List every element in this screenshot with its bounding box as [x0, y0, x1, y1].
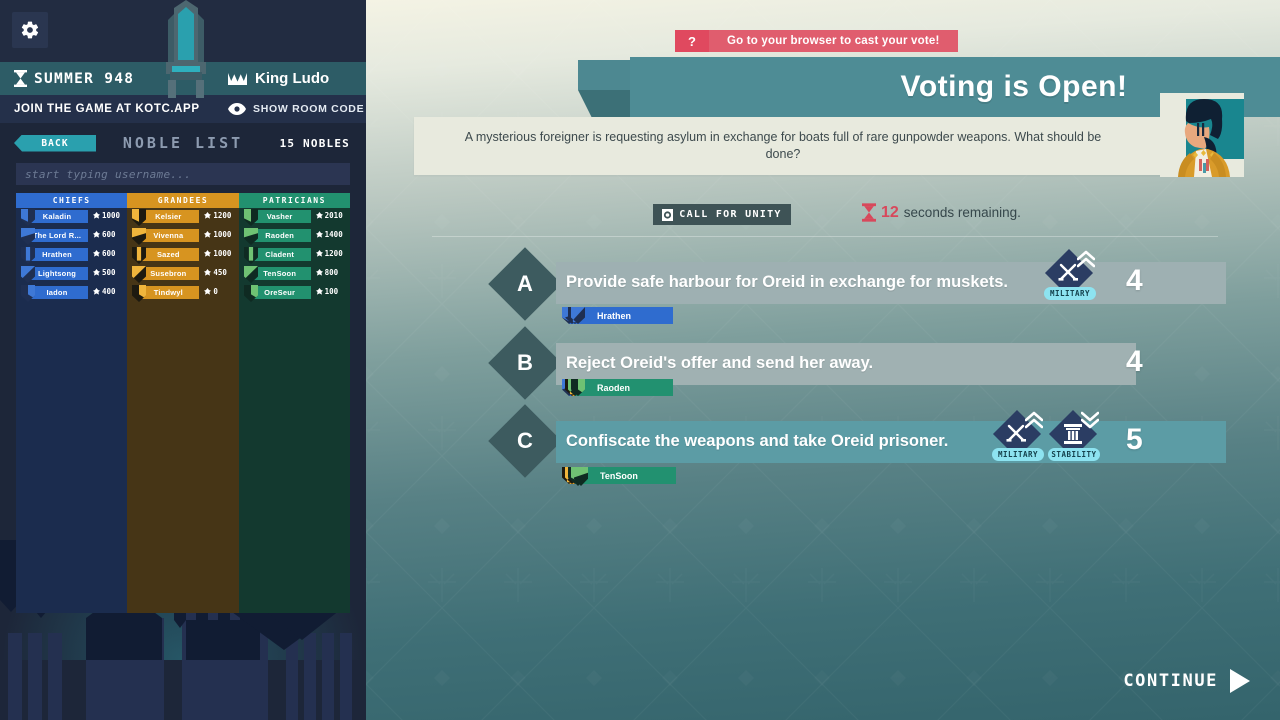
noble-shield	[21, 228, 35, 245]
noble-gold: 800	[316, 268, 339, 277]
noble-gold: 1000	[93, 211, 120, 220]
noble-gold: 1200	[316, 249, 343, 258]
noble-name: TenSoon	[249, 267, 311, 280]
season-label: SUMMER 948	[34, 71, 134, 87]
gold-icon	[204, 269, 211, 277]
noble-row[interactable]: The Lord R... 600	[16, 227, 127, 245]
noble-shield-icon	[21, 285, 35, 302]
noble-gold: 600	[93, 230, 116, 239]
gold-icon	[93, 288, 100, 296]
noble-shield	[244, 247, 258, 264]
noble-shield-icon	[244, 228, 258, 245]
noble-name: Susebron	[137, 267, 199, 280]
noble-gold-value: 1200	[325, 249, 343, 258]
effect-label: STABILITY	[1048, 448, 1100, 461]
noble-shield-icon	[132, 266, 146, 283]
noble-shield	[132, 285, 146, 302]
option-voters: The Lord Ruler Iadon Kaladin Hrathen	[562, 307, 571, 324]
voter-shield	[571, 379, 585, 398]
search-container	[0, 163, 366, 185]
call-for-unity-label: CALL FOR UNITY	[679, 209, 782, 220]
noble-row[interactable]: Vasher 2010	[239, 208, 350, 226]
noble-name: Hrathen	[26, 248, 88, 261]
noble-gold: 1000	[204, 230, 231, 239]
main-stage: ? Go to your browser to cast your vote! …	[366, 0, 1280, 720]
noble-shield-icon	[574, 467, 588, 486]
noble-shield-icon	[571, 307, 585, 326]
noble-gold: 600	[93, 249, 116, 258]
noble-gold: 0	[204, 287, 218, 296]
noble-shield	[21, 266, 35, 283]
voter-shield	[574, 467, 588, 486]
noble-shield	[21, 209, 35, 226]
noble-row[interactable]: Kelsier 1200	[127, 208, 238, 226]
noble-name: Tindwyl	[137, 286, 199, 299]
noble-shield-icon	[132, 285, 146, 302]
timer-seconds: 12	[881, 204, 899, 222]
voter-shield	[571, 307, 585, 326]
noble-gold-value: 600	[102, 230, 116, 239]
throne-icon	[160, 0, 212, 100]
noble-gold: 500	[93, 268, 116, 277]
event-description: A mysterious foreigner is requesting asy…	[414, 129, 1232, 164]
voter-name: Hrathen	[578, 307, 673, 324]
noble-gold-value: 1400	[325, 230, 343, 239]
noble-count: 15 NOBLES	[280, 137, 350, 150]
noble-name: Vivenna	[137, 229, 199, 242]
effect-label: MILITARY	[992, 448, 1044, 461]
column-header-patricians: PATRICIANS	[239, 193, 350, 208]
noble-shield-icon	[132, 209, 146, 226]
continue-label: CONTINUE	[1123, 671, 1218, 691]
column-body-grandees: Kelsier 1200 Vivenna 1000 Sazed 1000	[127, 208, 238, 613]
voter-name: TenSoon	[581, 467, 676, 484]
noble-gold-value: 1000	[213, 230, 231, 239]
gold-icon	[204, 231, 211, 239]
noble-gold: 1200	[204, 211, 231, 220]
noble-gold-value: 100	[325, 287, 339, 296]
option-text: Confiscate the weapons and take Oreid pr…	[556, 432, 948, 451]
hourglass-icon	[862, 203, 876, 222]
continue-button[interactable]: CONTINUE	[1123, 668, 1252, 694]
noble-row[interactable]: OreSeur 100	[239, 284, 350, 302]
gold-icon	[93, 250, 100, 258]
noble-row[interactable]: Kaladin 1000	[16, 208, 127, 226]
option-voters: Kelsier Tindwyl OreSeur Cladent TenSoon	[562, 467, 574, 484]
crown-icon	[228, 72, 247, 86]
noble-row[interactable]: Tindwyl 0	[127, 284, 238, 302]
noble-columns: CHIEFS Kaladin 1000 The Lord R... 600 Hr	[0, 193, 366, 613]
option-letter: B	[517, 350, 533, 376]
noble-shield-icon	[21, 209, 35, 226]
search-input[interactable]	[16, 163, 350, 185]
noble-gold-value: 1000	[213, 249, 231, 258]
gold-icon	[316, 250, 323, 258]
noble-shield-icon	[244, 266, 258, 283]
noble-shield	[244, 285, 258, 302]
eye-icon	[228, 103, 246, 115]
column-body-chiefs: Kaladin 1000 The Lord R... 600 Hrathen 6…	[16, 208, 127, 613]
game-screen: SUMMER 948 King Ludo JOIN THE GAME AT KO…	[0, 0, 1280, 720]
noble-shield	[132, 228, 146, 245]
noble-name: Iadon	[26, 286, 88, 299]
effect-label: MILITARY	[1044, 287, 1096, 300]
noble-row[interactable]: Vivenna 1000	[127, 227, 238, 245]
chevron-double-up-icon	[1077, 250, 1095, 268]
noble-gold: 400	[93, 287, 116, 296]
noble-shield	[132, 209, 146, 226]
noble-shield	[21, 247, 35, 264]
help-badge[interactable]: ?	[675, 30, 709, 52]
sidebar: SUMMER 948 King Ludo JOIN THE GAME AT KO…	[0, 0, 366, 720]
option-letter: C	[517, 428, 533, 454]
noble-shield	[132, 266, 146, 283]
section-divider	[432, 236, 1218, 237]
chevron-double-down-icon	[1081, 411, 1099, 429]
noble-shield-icon	[244, 285, 258, 302]
option-text: Reject Oreid's offer and send her away.	[556, 354, 873, 373]
noble-gold-value: 600	[102, 249, 116, 258]
noble-shield-icon	[244, 247, 258, 264]
column-header-chiefs: CHIEFS	[16, 193, 127, 208]
option-vote-count: 4	[1126, 264, 1143, 298]
noble-name: Kaladin	[26, 210, 88, 223]
gold-icon	[316, 212, 323, 220]
gold-icon	[93, 212, 100, 220]
voting-status-title: Voting is Open!	[901, 70, 1128, 104]
noble-gold: 1400	[316, 230, 343, 239]
option-vote-count: 5	[1126, 423, 1143, 457]
noble-shield	[244, 228, 258, 245]
noble-shield	[244, 266, 258, 283]
noble-row[interactable]: TenSoon 800	[239, 265, 350, 283]
noble-row[interactable]: Iadon 400	[16, 284, 127, 302]
vote-url-message: Go to your browser to cast your vote!	[709, 30, 958, 52]
show-room-code-button[interactable]: SHOW ROOM CODE	[228, 103, 364, 115]
sidebar-topbar	[0, 0, 366, 62]
noble-row[interactable]: Hrathen 600	[16, 246, 127, 264]
noble-name: Sazed	[137, 248, 199, 261]
gold-icon	[316, 288, 323, 296]
play-arrow-icon	[1228, 668, 1252, 694]
noble-shield	[132, 247, 146, 264]
noble-gold-value: 0	[213, 287, 218, 296]
gold-icon	[204, 250, 211, 258]
gold-icon	[93, 231, 100, 239]
hourglass-icon	[14, 70, 27, 87]
unity-icon	[662, 209, 673, 221]
gold-icon	[316, 231, 323, 239]
noble-gold: 2010	[316, 211, 343, 220]
noble-name: The Lord R...	[26, 229, 88, 242]
noble-gold-value: 1200	[213, 211, 231, 220]
noble-shield	[244, 209, 258, 226]
column-header-grandees: GRANDEES	[127, 193, 238, 208]
timer-suffix: seconds remaining.	[904, 205, 1021, 220]
vote-timer: 12 seconds remaining.	[862, 203, 1021, 222]
noble-column-chiefs: CHIEFS Kaladin 1000 The Lord R... 600 Hr	[16, 193, 127, 613]
noble-shield	[21, 285, 35, 302]
noble-shield-icon	[132, 247, 146, 264]
noble-column-patricians: PATRICIANS Vasher 2010 Raoden 1400 Clade	[239, 193, 350, 613]
effect-direction-icon	[1081, 411, 1099, 429]
noble-gold-value: 1000	[102, 211, 120, 220]
noble-gold: 1000	[204, 249, 231, 258]
noble-name: Kelsier	[137, 210, 199, 223]
noble-name: Cladent	[249, 248, 311, 261]
character-portrait	[1160, 93, 1244, 177]
noble-row[interactable]: Susebron 450	[127, 265, 238, 283]
gear-icon	[20, 20, 40, 40]
gold-icon	[204, 212, 211, 220]
noble-name: Lightsong	[26, 267, 88, 280]
gold-icon	[93, 269, 100, 277]
ribbon-tail-left	[578, 60, 638, 90]
noble-gold-value: 800	[325, 268, 339, 277]
noble-gold: 100	[316, 287, 339, 296]
noble-column-grandees: GRANDEES Kelsier 1200 Vivenna 1000 Sazed	[127, 193, 238, 613]
option-voters: Lightsong Vivenna Vasher Raoden	[562, 379, 571, 396]
column-body-patricians: Vasher 2010 Raoden 1400 Cladent 1200	[239, 208, 350, 613]
gold-icon	[316, 269, 323, 277]
option-letter: A	[517, 271, 533, 297]
join-text: JOIN THE GAME AT KOTC.APP	[0, 103, 200, 115]
king-name: King Ludo	[255, 70, 329, 87]
effect-direction-icon	[1025, 411, 1043, 429]
chevron-double-up-icon	[1025, 411, 1043, 429]
option-vote-count: 4	[1126, 345, 1143, 379]
noble-row[interactable]: Sazed 1000	[127, 246, 238, 264]
noble-name: OreSeur	[249, 286, 311, 299]
noble-shield-icon	[21, 228, 35, 245]
call-for-unity-button[interactable]: CALL FOR UNITY	[653, 204, 791, 225]
noble-shield-icon	[21, 247, 35, 264]
noble-gold-value: 400	[102, 287, 116, 296]
noble-name: Raoden	[249, 229, 311, 242]
noble-shield-icon	[571, 379, 585, 398]
noble-shield-icon	[21, 266, 35, 283]
gold-icon	[204, 288, 211, 296]
effect-direction-icon	[1077, 250, 1095, 268]
noble-shield-icon	[244, 209, 258, 226]
noble-gold: 450	[204, 268, 227, 277]
event-description-box: A mysterious foreigner is requesting asy…	[414, 117, 1232, 175]
noble-shield-icon	[132, 228, 146, 245]
noble-gold-value: 450	[213, 268, 227, 277]
noble-gold-value: 2010	[325, 211, 343, 220]
option-text: Provide safe harbour for Oreid in exchan…	[556, 273, 1008, 292]
noble-name: Vasher	[249, 210, 311, 223]
noble-gold-value: 500	[102, 268, 116, 277]
voter-name: Raoden	[578, 379, 673, 396]
vote-url-banner: ? Go to your browser to cast your vote!	[675, 30, 958, 52]
king-info: King Ludo	[228, 70, 329, 87]
noble-row[interactable]: Raoden 1400	[239, 227, 350, 245]
settings-button[interactable]	[12, 12, 48, 48]
noble-list-header: BACK NOBLE LIST 15 NOBLES	[0, 123, 366, 163]
show-room-code-label: SHOW ROOM CODE	[253, 103, 364, 115]
noble-row[interactable]: Lightsong 500	[16, 265, 127, 283]
noble-row[interactable]: Cladent 1200	[239, 246, 350, 264]
